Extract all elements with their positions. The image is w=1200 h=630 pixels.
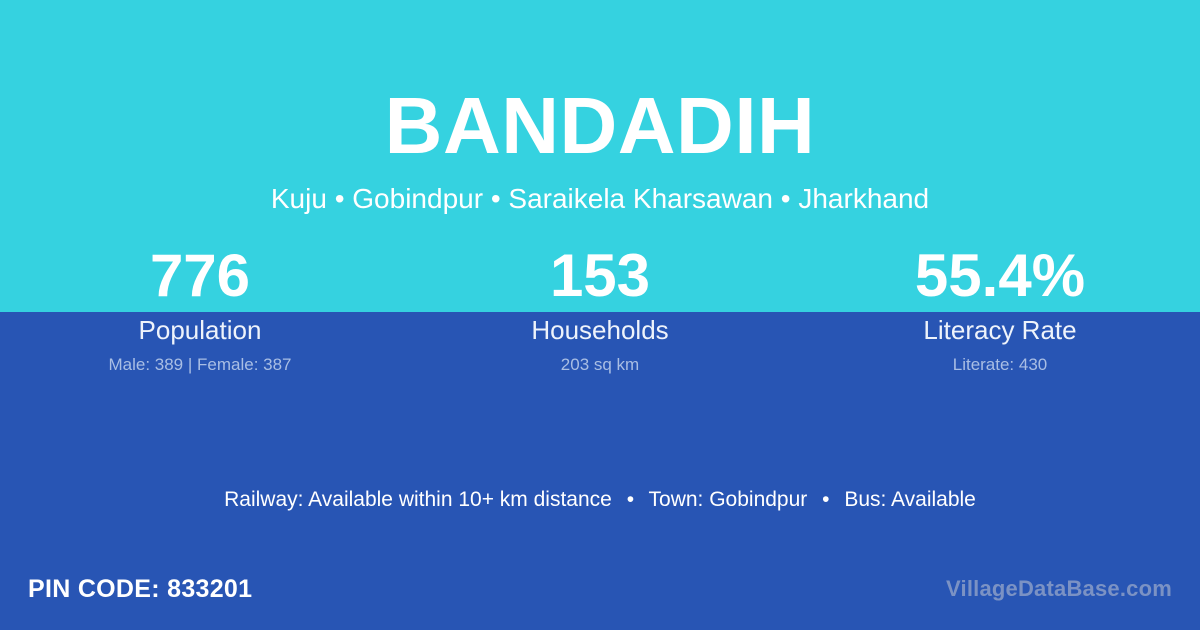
amenity-bus: Bus: Available	[844, 488, 976, 511]
bullet-separator-icon: •	[813, 486, 838, 514]
stat-card-literacy: 55.4% Literacy Rate Literate: 430	[800, 240, 1200, 376]
population-breakdown: Male: 389 | Female: 387	[0, 354, 400, 376]
pin-code: PIN CODE: 833201	[28, 574, 252, 604]
amenity-railway: Railway: Available within 10+ km distanc…	[224, 488, 612, 511]
households-value: 153	[400, 240, 800, 312]
site-watermark: VillageDataBase.com	[946, 575, 1172, 603]
bullet-separator-icon: •	[618, 486, 643, 514]
stat-card-population: 776 Population Male: 389 | Female: 387	[0, 240, 400, 376]
village-info-card: BANDADIH Kuju • Gobindpur • Saraikela Kh…	[0, 0, 1200, 630]
statistics-row: 776 Population Male: 389 | Female: 387 1…	[0, 240, 1200, 376]
households-area: 203 sq km	[400, 354, 800, 376]
households-label: Households	[400, 314, 800, 346]
population-value: 776	[0, 240, 400, 312]
footer: PIN CODE: 833201 VillageDataBase.com	[0, 556, 1200, 630]
literacy-count: Literate: 430	[800, 354, 1200, 376]
page-title: BANDADIH	[0, 84, 1200, 168]
stat-card-households: 153 Households 203 sq km	[400, 240, 800, 376]
population-label: Population	[0, 314, 400, 346]
breadcrumb-location: Kuju • Gobindpur • Saraikela Kharsawan •…	[0, 182, 1200, 216]
literacy-value: 55.4%	[800, 240, 1200, 312]
amenity-town: Town: Gobindpur	[649, 488, 808, 511]
amenities-line: Railway: Available within 10+ km distanc…	[0, 486, 1200, 514]
literacy-label: Literacy Rate	[800, 314, 1200, 346]
